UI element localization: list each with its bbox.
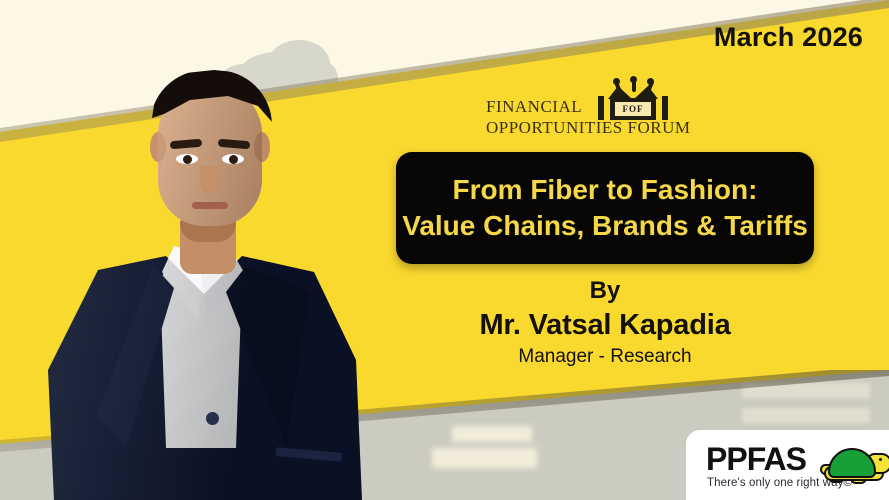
backdrop-shelf [742, 408, 870, 423]
speaker-by-label: By [396, 276, 814, 306]
session-title-plate: From Fiber to Fashion: Value Chains, Bra… [396, 152, 814, 264]
mouth [192, 202, 228, 209]
pupil-left [183, 155, 192, 164]
webinar-title-card: FINANCIAL OPPORTUNITIES FORUM FOF March … [0, 0, 889, 500]
ppfas-logo: PPFAS There's only one right way© [686, 430, 889, 500]
fof-mark-text: FOF [615, 102, 651, 116]
microphone-head [630, 76, 637, 83]
turtle-shell [828, 448, 876, 478]
fof-logo: FINANCIAL OPPORTUNITIES FORUM FOF [486, 78, 706, 140]
session-title-line1: From Fiber to Fashion: [453, 172, 758, 208]
session-title-line2: Value Chains, Brands & Tariffs [402, 208, 808, 244]
speaker-name: Mr. Vatsal Kapadia [396, 306, 814, 344]
turtle-icon [824, 444, 889, 480]
ppfas-wordmark: PPFAS [706, 441, 806, 478]
podium-microphones-icon: FOF [596, 78, 670, 122]
speaker-role: Manager - Research [396, 344, 814, 370]
podium-post [662, 96, 668, 120]
pupil-right [229, 155, 238, 164]
speaker-block: By Mr. Vatsal Kapadia Manager - Research [396, 276, 814, 370]
nose [200, 166, 220, 194]
turtle-eye [879, 458, 882, 461]
backdrop-shelf [432, 448, 537, 468]
speaker-portrait [40, 20, 370, 500]
podium-post [598, 96, 604, 120]
fof-logo-line1: FINANCIAL [486, 97, 582, 117]
microphone-head [647, 78, 654, 85]
microphone-head [613, 78, 620, 85]
backdrop-shelf [452, 426, 532, 442]
date-label: March 2026 [714, 22, 863, 53]
jacket-button [206, 412, 219, 425]
